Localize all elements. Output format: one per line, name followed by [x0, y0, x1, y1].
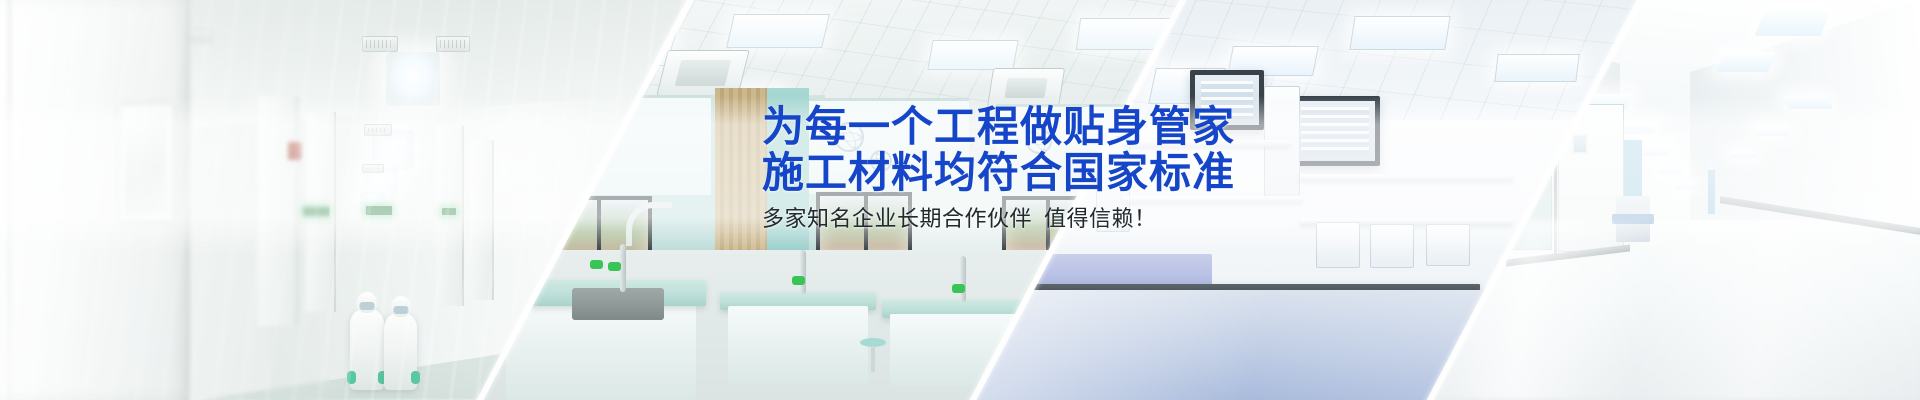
gas-valve-handle-icon [608, 262, 621, 271]
reagent-cabinet [1426, 224, 1470, 266]
lab-faucet-stem [960, 256, 966, 302]
corridor-light-strip [1783, 96, 1832, 109]
corridor-blue-wall-accent [1708, 170, 1715, 214]
corridor-light-strip [1754, 8, 1831, 36]
corridor-foreground-blur [0, 0, 330, 400]
hero-banner: 为每一个工程做贴身管家 施工材料均符合国家标准 多家知名企业长期合作伙伴值得信赖… [0, 0, 1920, 400]
banner-subline: 多家知名企业长期合作伙伴值得信赖！ [762, 205, 1382, 233]
lab-sink [572, 288, 664, 320]
ceiling-panel-light [1349, 16, 1450, 50]
banner-subline-part2: 值得信赖！ [1044, 206, 1157, 231]
gas-valve-handle-icon [952, 284, 965, 293]
ceiling-ac-unit-icon [987, 68, 1065, 108]
banner-subline-part1: 多家知名企业长期合作伙伴 [762, 206, 1032, 231]
corridor-light-strip [1716, 52, 1775, 72]
banner-copy: 为每一个工程做贴身管家 施工材料均符合国家标准 多家知名企业长期合作伙伴值得信赖… [762, 104, 1382, 233]
banner-headline-line2: 施工材料均符合国家标准 [762, 150, 1382, 196]
door-view-window [1572, 134, 1588, 154]
corridor-light-strip [1752, 126, 1790, 136]
lab-faucet-stem [800, 250, 806, 294]
lab-stool [860, 338, 886, 347]
ceiling-panel-light [1494, 54, 1579, 82]
banner-headline-line1: 为每一个工程做贴身管家 [762, 104, 1382, 150]
gas-valve-handle-icon [590, 260, 603, 269]
ceiling-panel-light [927, 40, 1018, 70]
corridor-light-strip [1729, 150, 1758, 158]
lab-bench-cabinet [728, 306, 868, 384]
gas-valve-handle-icon [792, 276, 805, 285]
corridor-light-strip [1675, 182, 1697, 189]
ceiling-panel-light [726, 14, 830, 48]
ceiling-panel-light [1076, 18, 1172, 50]
corridor-light-strip [1657, 166, 1686, 174]
